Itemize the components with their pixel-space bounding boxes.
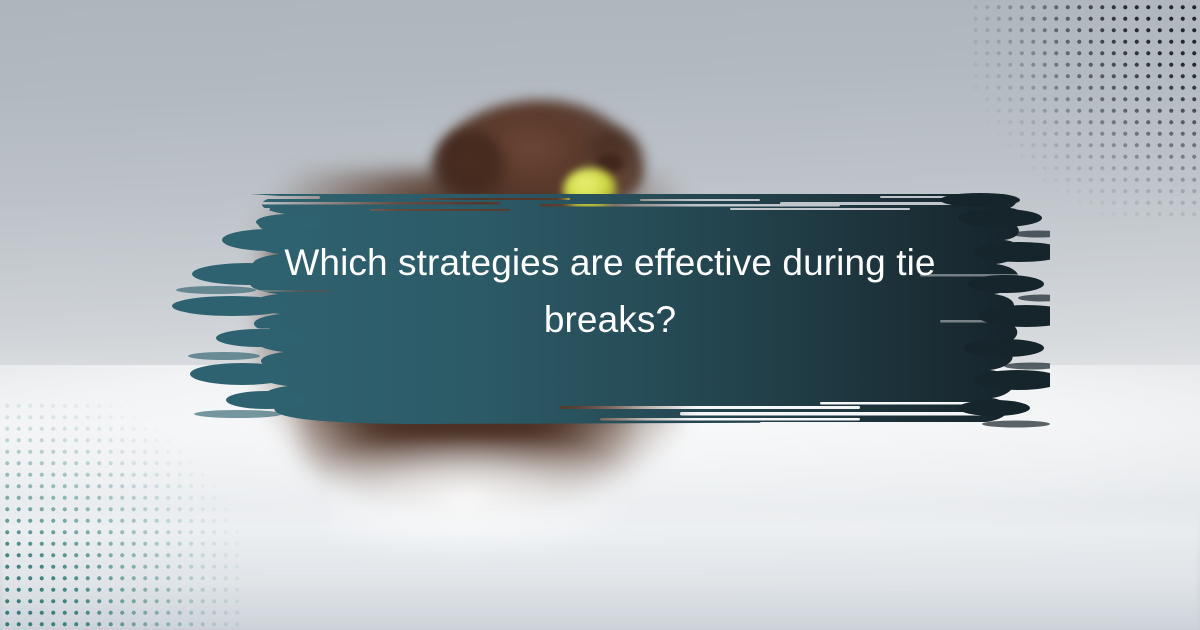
page-title: Which strategies are effective during ti… — [250, 234, 970, 348]
snow-foreground — [0, 500, 1200, 630]
headline-banner: Which strategies are effective during ti… — [120, 178, 1050, 440]
social-share-card: Which strategies are effective during ti… — [0, 0, 1200, 630]
